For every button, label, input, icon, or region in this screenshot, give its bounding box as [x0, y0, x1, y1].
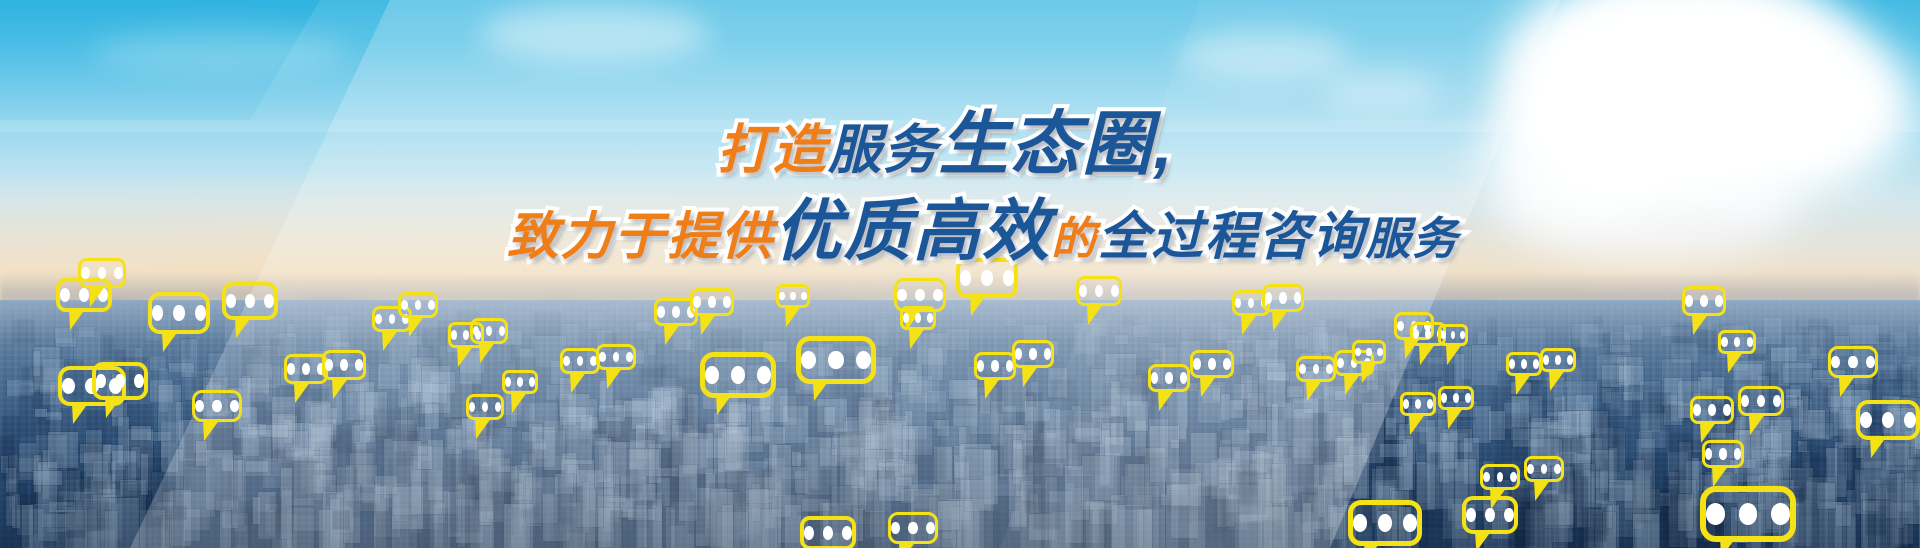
cloud-icon — [1500, 150, 1800, 260]
cloud-icon — [90, 30, 350, 74]
cloud-icon — [1180, 30, 1350, 82]
cityscape-photo — [0, 300, 1920, 548]
cloud-icon — [1320, 70, 1440, 110]
hero-banner: 打造服务生态圈, 致力于提供优质高效的全过程咨询服务 — [0, 0, 1920, 548]
cloud-icon — [480, 4, 710, 64]
city-blue-duotone — [0, 300, 1920, 548]
